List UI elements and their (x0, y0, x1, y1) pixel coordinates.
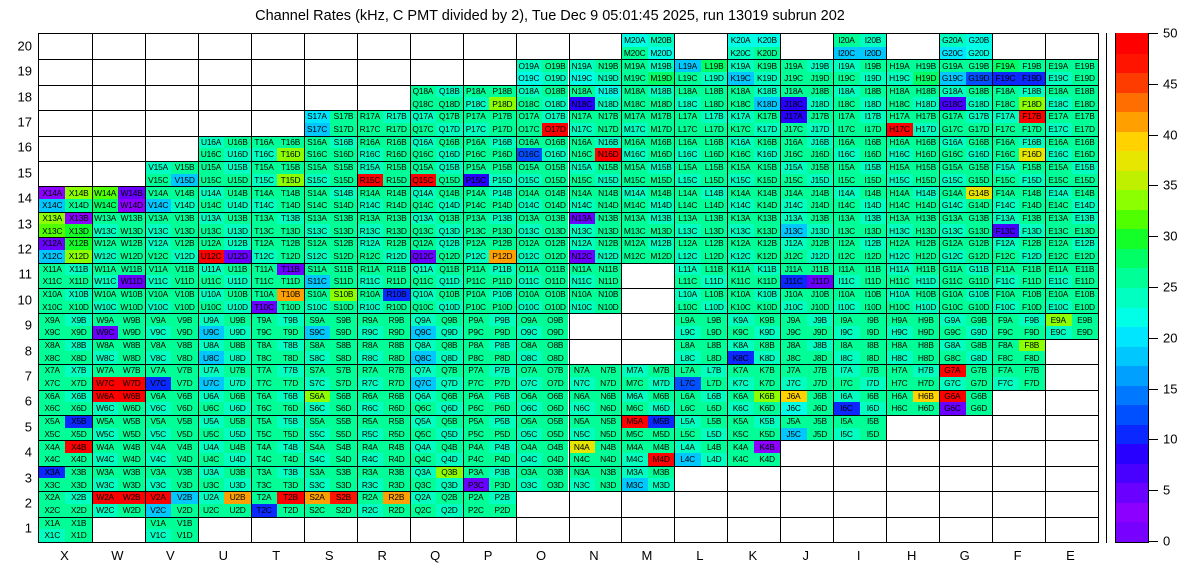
heatmap-tower: L7AL7BL7CL7D (674, 364, 727, 389)
heatmap-channel: L10B (701, 288, 727, 301)
heatmap-channel: T4A (251, 440, 277, 453)
colorbar-tick (1149, 541, 1158, 542)
heatmap-channel: H11D (913, 275, 939, 288)
heatmap-channel: X3A (39, 466, 65, 479)
heatmap-channel: M14C (621, 199, 647, 212)
heatmap-tower: N7AN7BN7CN7D (569, 364, 622, 389)
heatmap-channel: I15C (833, 174, 859, 187)
heatmap-tower: R10AR10BR10CR10D (357, 288, 410, 313)
heatmap-channel: I18A (833, 85, 859, 98)
heatmap-channel: E19A (1045, 59, 1071, 72)
heatmap-channel: J7D (807, 377, 833, 390)
heatmap-channel: X1C (39, 529, 65, 542)
heatmap-tower: L19AL19BL19CL19D (674, 59, 727, 84)
heatmap-channel: U11C (198, 275, 224, 288)
heatmap-channel: N10C (569, 301, 595, 314)
heatmap-channel: T10B (277, 288, 303, 301)
heatmap-channel: P12B (489, 237, 515, 250)
heatmap-channel: E16A (1045, 136, 1071, 149)
heatmap-tower: T2AT2BT2CT2D (251, 491, 304, 516)
heatmap-channel: L4D (701, 453, 727, 466)
heatmap-channel: F15C (992, 174, 1018, 187)
heatmap-channel: L6B (701, 390, 727, 403)
x-tick-label: F (1014, 548, 1022, 563)
heatmap-tower: I19AI19BI19CI19D (833, 59, 886, 84)
heatmap-channel: G20A (939, 34, 965, 47)
heatmap-channel: S3A (304, 466, 330, 479)
heatmap-channel: J14D (807, 199, 833, 212)
heatmap-channel: T7B (277, 364, 303, 377)
heatmap-channel: K20B (754, 34, 780, 47)
heatmap-channel: P8B (489, 339, 515, 352)
heatmap-channel: N3B (595, 466, 621, 479)
heatmap-tower: S17AS17BS17CS17D (304, 110, 357, 135)
heatmap-channel: J13C (780, 224, 806, 237)
heatmap-channel: Q12B (436, 237, 462, 250)
heatmap-channel: W10A (92, 288, 118, 301)
heatmap-channel: F10A (992, 288, 1018, 301)
heatmap-channel: P17D (489, 123, 515, 136)
heatmap-channel: S10B (330, 288, 356, 301)
y-tick-label: 4 (10, 445, 32, 460)
heatmap-channel: I20B (860, 34, 886, 47)
heatmap-tower: U6AU6BU6CU6D (198, 390, 251, 415)
heatmap-channel: S15C (304, 174, 330, 187)
heatmap-channel: J7B (807, 364, 833, 377)
heatmap-tower: M7AM7BM7CM7D (621, 364, 674, 389)
heatmap-channel: O3D (542, 478, 568, 491)
heatmap-channel: V4B (171, 440, 197, 453)
heatmap-channel: R3B (383, 466, 409, 479)
heatmap-channel: L13C (674, 224, 700, 237)
heatmap-channel: F7D (1019, 377, 1045, 390)
heatmap-channel: P5B (489, 415, 515, 428)
heatmap-channel: H16A (886, 136, 912, 149)
heatmap-channel: W10B (118, 288, 144, 301)
heatmap-channel: K20D (754, 47, 780, 60)
heatmap-channel: O14D (542, 199, 568, 212)
heatmap-channel: R16B (383, 136, 409, 149)
heatmap-channel: X3C (39, 478, 65, 491)
heatmap-channel: M17A (621, 110, 647, 123)
heatmap-tower: O14AO14BO14CO14D (516, 186, 569, 211)
heatmap-tower: F8AF8BF8CF8D (992, 339, 1045, 364)
heatmap-channel: W3A (92, 466, 118, 479)
heatmap-channel: Q6C (410, 402, 436, 415)
heatmap-channel: Q7C (410, 377, 436, 390)
heatmap-channel: Q12C (410, 250, 436, 263)
heatmap-channel: R14A (357, 186, 383, 199)
heatmap-channel: O5B (542, 415, 568, 428)
heatmap-tower: N15AN15BN15CN15D (569, 161, 622, 186)
heatmap-tower: V12AV12BV12CV12D (145, 237, 198, 262)
heatmap-channel: H17D (913, 123, 939, 136)
heatmap-channel: Q4B (436, 440, 462, 453)
heatmap-tower: W7AW7BW7CW7D (92, 364, 145, 389)
heatmap-channel: L19B (701, 59, 727, 72)
heatmap-channel: S9D (330, 326, 356, 339)
heatmap-channel: X13D (65, 224, 91, 237)
heatmap-channel: Q15B (436, 161, 462, 174)
heatmap-channel: V9D (171, 326, 197, 339)
y-tick-label: 8 (10, 343, 32, 358)
heatmap-channel: M15D (648, 174, 674, 187)
heatmap-channel: I7C (833, 377, 859, 390)
heatmap-channel: G15B (966, 161, 992, 174)
heatmap-tower: R8AR8BR8CR8D (357, 339, 410, 364)
heatmap-channel: L6D (701, 402, 727, 415)
heatmap-channel: G20C (939, 47, 965, 60)
heatmap-channel: E18B (1072, 85, 1098, 98)
heatmap-channel: Q16D (436, 148, 462, 161)
heatmap-channel: U2B (224, 491, 250, 504)
heatmap-channel: O15A (516, 161, 542, 174)
heatmap-channel: R6C (357, 402, 383, 415)
heatmap-channel: L16C (674, 148, 700, 161)
heatmap-channel: X2A (39, 491, 65, 504)
heatmap-channel: U8C (198, 351, 224, 364)
heatmap-channel: F18A (992, 85, 1018, 98)
heatmap-channel: R10A (357, 288, 383, 301)
heatmap-channel: K16A (727, 136, 753, 149)
colorbar-tick-label: 40 (1163, 127, 1177, 142)
heatmap-tower: U3AU3BU3CU3D (198, 466, 251, 491)
heatmap-tower: V7AV7BV7CV7D (145, 364, 198, 389)
heatmap-channel: U16B (224, 136, 250, 149)
colorbar-tick-label: 10 (1163, 432, 1177, 447)
heatmap-channel: T3D (277, 478, 303, 491)
heatmap-channel: N15C (569, 174, 595, 187)
y-tick-label: 17 (10, 114, 32, 129)
heatmap-channel: M7C (621, 377, 647, 390)
heatmap-channel: Q9D (436, 326, 462, 339)
heatmap-channel: H6B (913, 390, 939, 403)
heatmap-tower: O17AO17BO17CO17D (516, 110, 569, 135)
heatmap-channel: J14A (780, 186, 806, 199)
heatmap-channel: U8D (224, 351, 250, 364)
heatmap-channel: I17C (833, 123, 859, 136)
heatmap-channel: J8D (807, 351, 833, 364)
heatmap-channel: O17D (542, 123, 568, 136)
heatmap-channel: P4D (489, 453, 515, 466)
heatmap-channel: H11C (886, 275, 912, 288)
heatmap-tower: X8AX8BX8CX8D (39, 339, 92, 364)
heatmap-channel: V14C (145, 199, 171, 212)
heatmap-channel: L18D (701, 97, 727, 110)
heatmap-channel: Q17B (436, 110, 462, 123)
heatmap-channel: X3D (65, 478, 91, 491)
heatmap-channel: P13C (463, 224, 489, 237)
heatmap-tower: U13AU13BU13CU13D (198, 212, 251, 237)
heatmap-channel: Q7B (436, 364, 462, 377)
heatmap-channel: Q8A (410, 339, 436, 352)
heatmap-channel: X14D (65, 199, 91, 212)
heatmap-channel: Q15D (436, 174, 462, 187)
heatmap-channel: L15A (674, 161, 700, 174)
heatmap-tower: V11AV11BV11CV11D (145, 263, 198, 288)
heatmap-channel: H17A (886, 110, 912, 123)
heatmap-channel: I10A (833, 288, 859, 301)
heatmap-channel: U8B (224, 339, 250, 352)
heatmap-channel: E15D (1072, 174, 1098, 187)
heatmap-tower: Q4AQ4BQ4CQ4D (410, 440, 463, 465)
heatmap-channel: O17B (542, 110, 568, 123)
heatmap-channel: N15A (569, 161, 595, 174)
heatmap-channel: L10A (674, 288, 700, 301)
heatmap-channel: M20D (648, 47, 674, 60)
heatmap-channel: L14D (701, 199, 727, 212)
heatmap-tower: X13AX13BX13CX13D (39, 212, 92, 237)
heatmap-channel: P6D (489, 402, 515, 415)
heatmap-channel: W11B (118, 263, 144, 276)
heatmap-channel: V2B (171, 491, 197, 504)
heatmap-channel: E16B (1072, 136, 1098, 149)
heatmap-channel: K7B (754, 364, 780, 377)
heatmap-tower: V13AV13BV13CV13D (145, 212, 198, 237)
heatmap-channel: R13B (383, 212, 409, 225)
heatmap-tower: N17AN17BN17CN17D (569, 110, 622, 135)
heatmap-channel: S16B (330, 136, 356, 149)
heatmap-tower: R3AR3BR3CR3D (357, 466, 410, 491)
heatmap-tower: X12AX12BX12CX12D (39, 237, 92, 262)
heatmap-channel: K13C (727, 224, 753, 237)
heatmap-channel: I19D (860, 72, 886, 85)
heatmap-channel: R6A (357, 390, 383, 403)
heatmap-tower: O6AO6BO6CO6D (516, 390, 569, 415)
heatmap-channel: I12C (833, 250, 859, 263)
heatmap-channel: I8B (860, 339, 886, 352)
heatmap-channel: K11A (727, 263, 753, 276)
heatmap-channel: I6A (833, 390, 859, 403)
heatmap-channel: U3B (224, 466, 250, 479)
heatmap-channel: K19D (754, 72, 780, 85)
heatmap-channel: O17C (516, 123, 542, 136)
heatmap-channel: V8A (145, 339, 171, 352)
heatmap-channel: I18D (860, 97, 886, 110)
heatmap-channel: J12D (807, 250, 833, 263)
heatmap-channel: L4C (674, 453, 700, 466)
heatmap-tower: X5AX5BX5CX5D (39, 415, 92, 440)
heatmap-channel: S13C (304, 224, 330, 237)
heatmap-channel: S4C (304, 453, 330, 466)
heatmap-tower: M3AM3BM3CM3D (621, 466, 674, 491)
heatmap-channel: W13A (92, 212, 118, 225)
heatmap-channel: V11B (171, 263, 197, 276)
heatmap-tower: N13AN13BN13CN13D (569, 212, 622, 237)
heatmap-channel: Q2B (436, 491, 462, 504)
heatmap-channel: Q10B (436, 288, 462, 301)
heatmap-channel: P7C (463, 377, 489, 390)
heatmap-tower: R4AR4BR4CR4D (357, 440, 410, 465)
heatmap-channel: K9B (754, 313, 780, 326)
heatmap-tower: O11AO11BO11CO11D (516, 263, 569, 288)
heatmap-tower: V9AV9BV9CV9D (145, 313, 198, 338)
heatmap-channel: T16D (277, 148, 303, 161)
heatmap-channel: G11D (966, 275, 992, 288)
heatmap-channel: P14D (489, 199, 515, 212)
heatmap-channel: E19B (1072, 59, 1098, 72)
heatmap-channel: S13D (330, 224, 356, 237)
heatmap-tower: W4AW4BW4CW4D (92, 440, 145, 465)
heatmap-channel: I8D (860, 351, 886, 364)
heatmap-channel: H10C (886, 301, 912, 314)
heatmap-channel: O9A (516, 313, 542, 326)
heatmap-channel: E15B (1072, 161, 1098, 174)
heatmap-channel: K19A (727, 59, 753, 72)
heatmap-tower: T7AT7BT7CT7D (251, 364, 304, 389)
heatmap-channel: G15A (939, 161, 965, 174)
heatmap-channel: E13D (1072, 224, 1098, 237)
heatmap-channel: I6B (860, 390, 886, 403)
heatmap-channel: F10D (1019, 301, 1045, 314)
heatmap-channel: M14B (648, 186, 674, 199)
heatmap-channel: J10B (807, 288, 833, 301)
heatmap-channel: T9A (251, 313, 277, 326)
heatmap-channel: V6D (171, 402, 197, 415)
heatmap-channel: K13A (727, 212, 753, 225)
heatmap-channel: Q12D (436, 250, 462, 263)
heatmap-channel: I9C (833, 326, 859, 339)
colorbar-tick-label: 30 (1163, 229, 1177, 244)
heatmap-tower: H9AH9BH9CH9D (886, 313, 939, 338)
x-tick-label: G (960, 548, 970, 563)
heatmap-channel: T6B (277, 390, 303, 403)
grid-line-horizontal (39, 263, 1098, 264)
x-tick-label: W (111, 548, 123, 563)
heatmap-channel: S15D (330, 174, 356, 187)
heatmap-channel: T10C (251, 301, 277, 314)
heatmap-channel: O9B (542, 313, 568, 326)
heatmap-channel: K4A (727, 440, 753, 453)
heatmap-channel: H14B (913, 186, 939, 199)
heatmap-channel: E9B (1072, 313, 1098, 326)
heatmap-channel: G16C (939, 148, 965, 161)
heatmap-channel: I9B (860, 313, 886, 326)
heatmap-tower: P18AP18BP18CP18D (463, 85, 516, 110)
heatmap-channel: L5D (701, 428, 727, 441)
heatmap-channel: J9A (780, 313, 806, 326)
heatmap-channel: N14A (569, 186, 595, 199)
heatmap-channel: H9C (886, 326, 912, 339)
heatmap-channel: I5D (860, 428, 886, 441)
heatmap-channel: K19C (727, 72, 753, 85)
heatmap-channel: Q9B (436, 313, 462, 326)
heatmap-channel: S15A (304, 161, 330, 174)
heatmap-channel: H19C (886, 72, 912, 85)
heatmap-channel: L16B (701, 136, 727, 149)
heatmap-channel: V4A (145, 440, 171, 453)
heatmap-channel: M12D (648, 250, 674, 263)
heatmap-channel: Q15A (410, 161, 436, 174)
heatmap-channel: W5B (118, 415, 144, 428)
heatmap-tower: P16AP16BP16CP16D (463, 136, 516, 161)
heatmap-channel: V7A (145, 364, 171, 377)
heatmap-channel: W6A (92, 390, 118, 403)
heatmap-tower: S16AS16BS16CS16D (304, 136, 357, 161)
heatmap-channel: K10A (727, 288, 753, 301)
heatmap-channel: K15C (727, 174, 753, 187)
heatmap-channel: Q14D (436, 199, 462, 212)
heatmap-channel: E15C (1045, 174, 1071, 187)
heatmap-channel: M13C (621, 224, 647, 237)
heatmap-channel: S3B (330, 466, 356, 479)
heatmap-channel: H15D (913, 174, 939, 187)
heatmap-channel: H14D (913, 199, 939, 212)
heatmap-channel: K13D (754, 224, 780, 237)
heatmap-tower: W8AW8BW8CW8D (92, 339, 145, 364)
heatmap-channel: Q18B (436, 85, 462, 98)
heatmap-channel: Q11A (410, 263, 436, 276)
heatmap-tower: N14AN14BN14CN14D (569, 186, 622, 211)
colorbar-tick-label: 50 (1163, 26, 1177, 41)
heatmap-channel: K13B (754, 212, 780, 225)
heatmap-channel: R15B (383, 161, 409, 174)
heatmap-channel: H12B (913, 237, 939, 250)
heatmap-channel: N17C (569, 123, 595, 136)
y-tick-label: 11 (10, 267, 32, 282)
heatmap-channel: X4A (39, 440, 65, 453)
heatmap-channel: E14A (1045, 186, 1071, 199)
heatmap-channel: L9B (701, 313, 727, 326)
heatmap-tower: H13AH13BH13CH13D (886, 212, 939, 237)
heatmap-channel: G6C (939, 402, 965, 415)
heatmap-channel: J13B (807, 212, 833, 225)
heatmap-tower: J6AJ6BJ6CJ6D (780, 390, 833, 415)
heatmap-channel: N16B (595, 136, 621, 149)
heatmap-channel: M7D (648, 377, 674, 390)
heatmap-channel: O9D (542, 326, 568, 339)
heatmap-channel: H13A (886, 212, 912, 225)
heatmap-tower: S10AS10BS10CS10D (304, 288, 357, 313)
colorbar-tick (1149, 135, 1158, 136)
heatmap-channel: G13C (939, 224, 965, 237)
heatmap-channel: J6D (807, 402, 833, 415)
heatmap-tower: Q11AQ11BQ11CQ11D (410, 263, 463, 288)
heatmap-channel: P7B (489, 364, 515, 377)
heatmap-channel: U2A (198, 491, 224, 504)
heatmap-tower: F14AF14BF14CF14D (992, 186, 1045, 211)
heatmap-channel: I10C (833, 301, 859, 314)
x-tick-label: M (642, 548, 653, 563)
heatmap-channel: K7C (727, 377, 753, 390)
heatmap-tower: T14AT14BT14CT14D (251, 186, 304, 211)
heatmap-channel: R9D (383, 326, 409, 339)
heatmap-channel: J19A (780, 59, 806, 72)
heatmap-channel: L18A (674, 85, 700, 98)
heatmap-channel: V4C (145, 453, 171, 466)
heatmap-channel: W11D (118, 275, 144, 288)
heatmap-channel: K4D (754, 453, 780, 466)
heatmap-channel: Q18C (410, 97, 436, 110)
heatmap-channel: I6D (860, 402, 886, 415)
heatmap-channel: L7B (701, 364, 727, 377)
heatmap-channel: X7D (65, 377, 91, 390)
heatmap-channel: H10A (886, 288, 912, 301)
heatmap-channel: S3C (304, 478, 330, 491)
heatmap-channel: V15D (171, 174, 197, 187)
heatmap-channel: M4A (621, 440, 647, 453)
heatmap-channel: M18D (648, 97, 674, 110)
heatmap-channel: R12C (357, 250, 383, 263)
heatmap-channel: Q7A (410, 364, 436, 377)
heatmap-channel: F8D (1019, 351, 1045, 364)
heatmap-channel: S7D (330, 377, 356, 390)
heatmap-channel: W14A (92, 186, 118, 199)
heatmap-tower: P7AP7BP7CP7D (463, 364, 516, 389)
heatmap-tower: K9AK9BK9CK9D (727, 313, 780, 338)
heatmap-channel: U7B (224, 364, 250, 377)
heatmap-channel: X12C (39, 250, 65, 263)
